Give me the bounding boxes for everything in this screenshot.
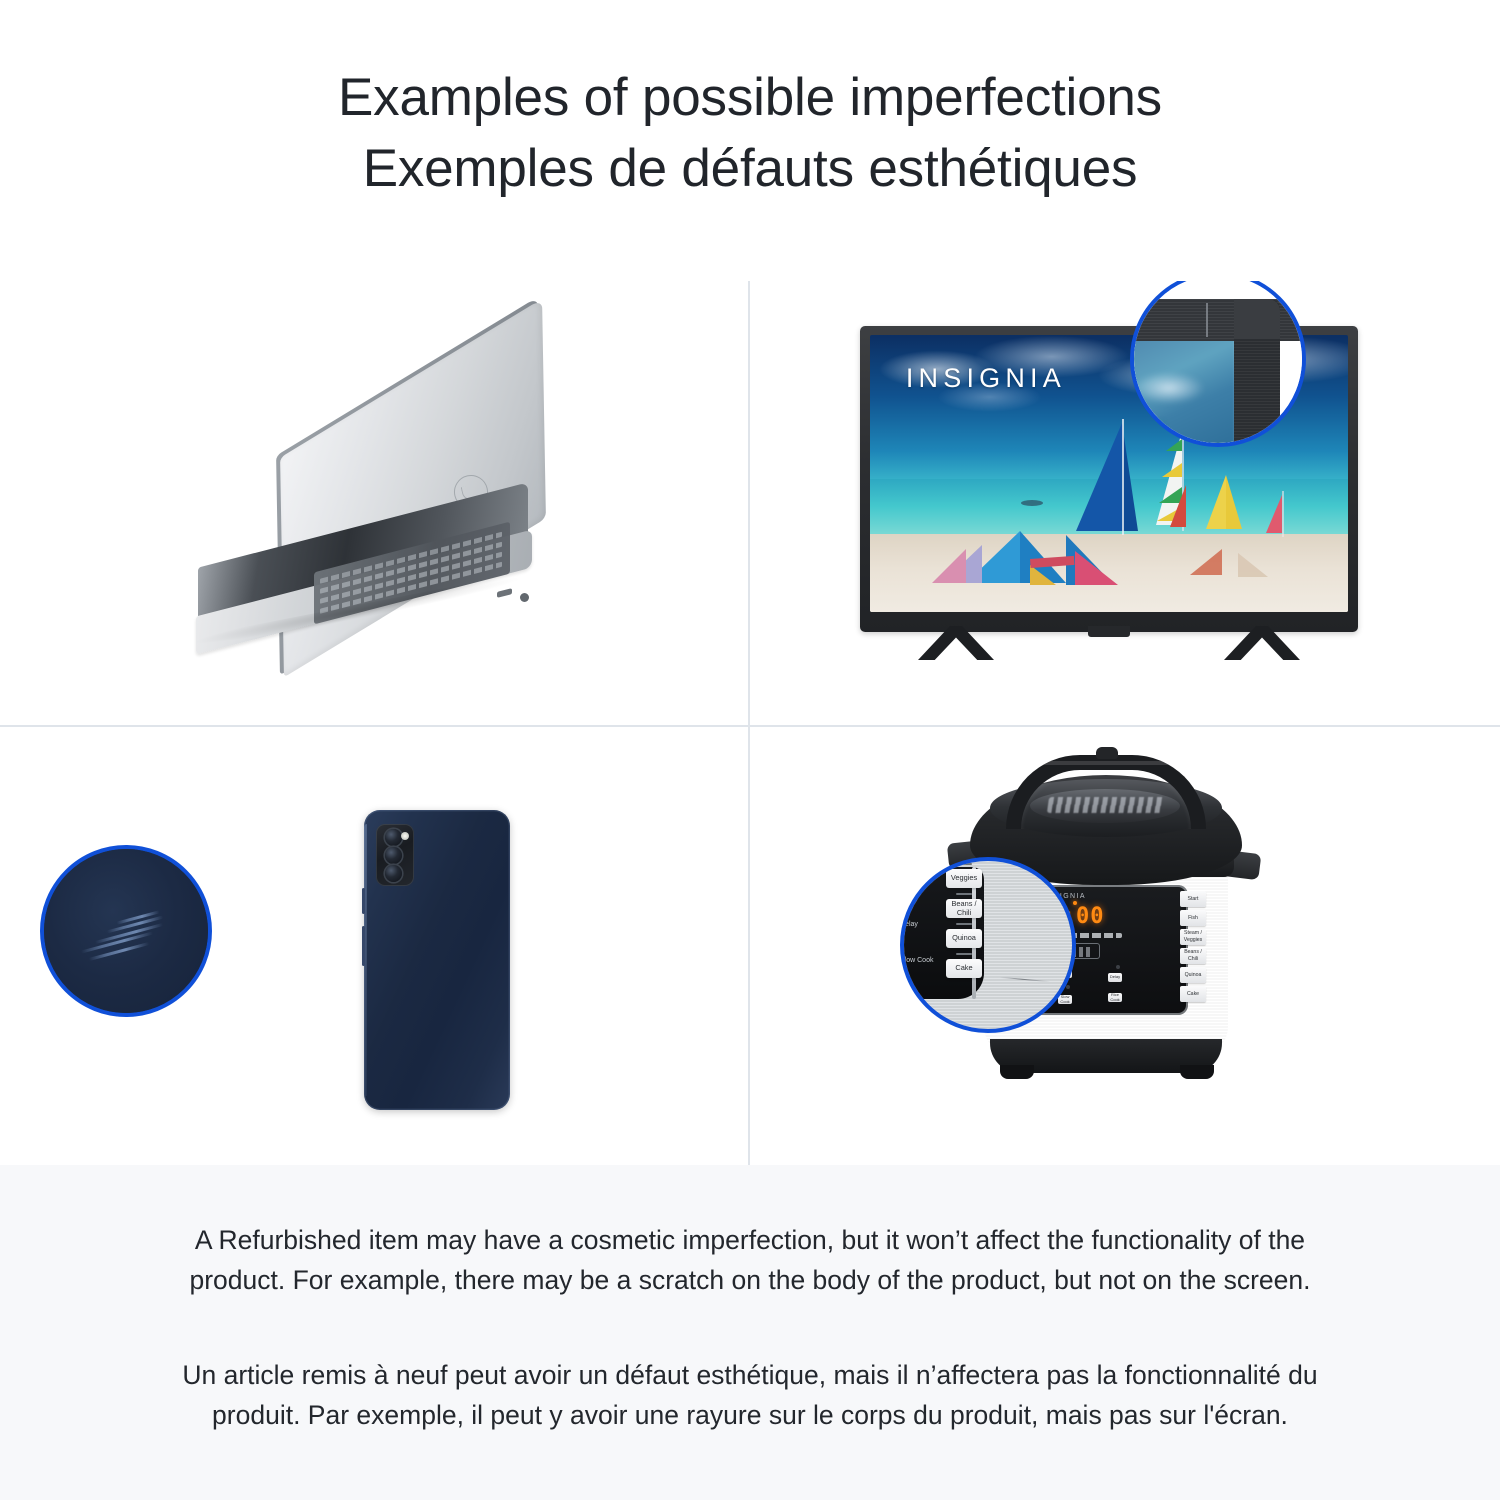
example-cell-laptop (0, 281, 748, 725)
cooker-button-steam-veggies[interactable]: Steam / Veggies (1180, 929, 1206, 945)
example-cell-phone (0, 727, 748, 1165)
tv-foot-left (918, 626, 994, 660)
magnifier-cooker-button-veggies[interactable]: Veggies (946, 869, 982, 888)
cooker-button-quinoa[interactable]: Quinoa (1180, 967, 1206, 983)
cooker-foot-left (1000, 1065, 1034, 1079)
cooker-handle-highlight (1016, 761, 1198, 791)
tv-foot-right (1224, 626, 1300, 660)
magnifier-cooker-scratch: Delay Slow Cook Veggies Beans / Chili Qu… (900, 857, 1076, 1033)
laptop-audio-port-icon (520, 593, 529, 602)
tv-scratch-mark (1206, 303, 1208, 337)
magnifier-tv-scratch (1130, 281, 1306, 447)
cooker-steam-valve-icon (1096, 747, 1118, 759)
phone-volume-button-icon (362, 888, 365, 914)
cooker-button-cake[interactable]: Cake (1180, 986, 1206, 1002)
magnifier-tv-sail-blur (1130, 421, 1164, 443)
magnifier-phone-surface (44, 849, 208, 1013)
magnifier-phone-scratch (40, 845, 212, 1017)
disclaimer-band: A Refurbished item may have a cosmetic i… (0, 1165, 1500, 1500)
phone-camera-lens-1-icon (385, 829, 402, 846)
magnifier-cooker-tick-3 (956, 923, 972, 925)
example-cell-tv: INSIGNIA (750, 281, 1500, 725)
example-grid: INSIGNIA (0, 281, 1500, 1165)
phone-image (364, 810, 514, 1120)
cooker-button-fish[interactable]: Fish (1180, 910, 1206, 926)
cooker-button-column-right: Start Fish Steam / Veggies Beans / Chili… (1180, 891, 1206, 1002)
title-line-en: Examples of possible imperfections (0, 62, 1500, 133)
magnifier-cooker-button-cake[interactable]: Cake (946, 959, 982, 978)
tv-brand-logo: INSIGNIA (906, 363, 1066, 394)
magnifier-cooker-button-beans[interactable]: Beans / Chili (946, 899, 982, 918)
magnifier-cooker-tick-2 (956, 893, 972, 895)
magnifier-cooker-label-delay: Delay (900, 921, 918, 928)
tv-center-tab (1088, 626, 1130, 637)
cooker-button-beans[interactable]: Beans / Chili (1180, 948, 1206, 964)
phone-back-panel (364, 810, 510, 1110)
phone-camera-module (376, 824, 414, 886)
phone-camera-lens-2-icon (385, 847, 402, 864)
phone-camera-lens-3-icon (385, 865, 402, 882)
cooker-button-start[interactable]: Start (1180, 891, 1206, 907)
cooker-button-delay[interactable]: Delay (1108, 973, 1122, 982)
magnifier-cooker-tick-1 (956, 863, 972, 865)
phone-power-button-icon (362, 926, 365, 966)
example-cell-pressure-cooker: INSIGNIA 8:00 Manual Keep Warm Delay Ste… (750, 727, 1500, 1165)
title-line-fr: Exemples de défauts esthétiques (0, 133, 1500, 204)
imperfections-infographic: Examples of possible imperfections Exemp… (0, 0, 1500, 1500)
magnifier-tv-cloud-blur (1130, 361, 1236, 415)
magnifier-tv-bezel-corner (1234, 299, 1280, 339)
disclaimer-paragraph-en: A Refurbished item may have a cosmetic i… (180, 1220, 1320, 1300)
tv-stand (860, 626, 1358, 670)
disclaimer-paragraph-fr: Un article remis à neuf peut avoir un dé… (180, 1355, 1320, 1435)
page-title: Examples of possible imperfections Exemp… (0, 62, 1500, 204)
magnifier-cooker-label-slow-cook: Slow Cook (900, 957, 933, 964)
cooker-foot-right (1180, 1065, 1214, 1079)
laptop-image (186, 377, 566, 647)
magnifier-cooker-tick-4 (956, 953, 972, 955)
phone-camera-flash-icon (401, 832, 409, 840)
cooker-led-5 (1116, 965, 1120, 969)
magnifier-cooker-button-quinoa[interactable]: Quinoa (946, 929, 982, 948)
cooker-button-rice-cook[interactable]: Rice Cook (1108, 993, 1122, 1002)
